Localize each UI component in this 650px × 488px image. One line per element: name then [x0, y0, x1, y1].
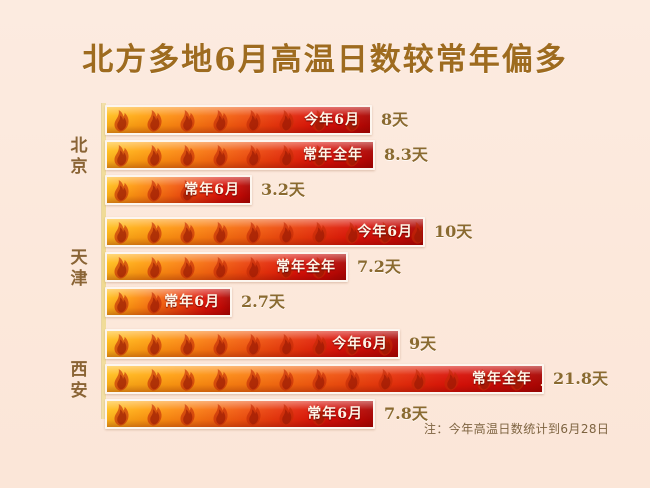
chart-footnote: 注：今年高温日数统计到6月28日: [424, 420, 609, 437]
flame-icon: [275, 220, 308, 246]
bar-value-label: 21.8天: [553, 368, 608, 390]
flame-icon: [110, 143, 143, 169]
flame-icon: [176, 143, 209, 169]
flame-icon: [110, 255, 143, 281]
bar-row: ...常年全年21.8天: [105, 364, 650, 394]
bar-row: 今年6月10天: [105, 217, 555, 247]
flame-icon: [407, 367, 440, 393]
flame-icon: [209, 220, 242, 246]
bar-row: 常年全年7.2天: [105, 252, 478, 282]
city-group: 西安今年6月9天...常年全年21.8天常年6月7.8天: [0, 329, 650, 434]
flame-icon: [242, 143, 275, 169]
city-label-char: 京: [62, 157, 96, 178]
flame-icon: [110, 108, 143, 134]
flame-icon: [308, 220, 341, 246]
bar-北京-常年全年[interactable]: 常年全年: [105, 140, 375, 170]
flame-icon: [275, 367, 308, 393]
flame-icon: [176, 402, 209, 428]
bar-chart: 北京今年6月8天常年全年8.3天常年6月3.2天天津今年6月10天常年全年7.2…: [0, 100, 650, 425]
bar-西安-常年6月[interactable]: 常年6月: [105, 399, 375, 429]
bar-series-label: 常年全年: [297, 142, 369, 168]
city-label-1: 北京: [62, 136, 96, 178]
bar-series-label: 今年6月: [298, 107, 366, 133]
bar-value-label: 10天: [434, 221, 472, 243]
flame-icon: [341, 367, 374, 393]
bar-天津-常年全年[interactable]: 常年全年: [105, 252, 348, 282]
flame-icon: [143, 220, 176, 246]
flame-icon: [308, 367, 341, 393]
flame-icon: [242, 367, 275, 393]
city-label-3: 西安: [62, 360, 96, 402]
flame-icon: [110, 367, 143, 393]
flame-icon: [242, 108, 275, 134]
bar-value-label: 3.2天: [261, 179, 305, 201]
bar-series-label: 常年6月: [301, 401, 369, 427]
flame-icon: [176, 332, 209, 358]
bar-value-label: 9天: [409, 333, 436, 355]
city-label-char: 安: [62, 381, 96, 402]
bar-series-label: 今年6月: [351, 219, 419, 245]
bar-value-label: 7.2天: [357, 256, 401, 278]
bar-北京-今年6月[interactable]: 今年6月: [105, 105, 372, 135]
bar-value-label: 8天: [381, 109, 408, 131]
flame-icon: [275, 332, 308, 358]
bar-天津-常年6月[interactable]: 常年6月: [105, 287, 232, 317]
flame-icon: [176, 108, 209, 134]
flame-icon: [176, 367, 209, 393]
bar-series-label: 今年6月: [326, 331, 394, 357]
flame-icon: [110, 332, 143, 358]
bar-truncation-ellipsis: ...: [540, 374, 544, 389]
flame-icon: [242, 402, 275, 428]
flame-icon: [242, 332, 275, 358]
infographic-canvas: 北方多地6月高温日数较常年偏多 北京今年6月8天常年全年8.3天常年6月3.2天…: [0, 0, 650, 488]
city-label-char: 天: [62, 248, 96, 269]
flame-icon: [110, 178, 143, 204]
bar-value-label: 8.3天: [384, 144, 428, 166]
flame-icon: [209, 143, 242, 169]
flame-icon: [209, 332, 242, 358]
flame-icon: [110, 402, 143, 428]
flame-icon: [209, 367, 242, 393]
bar-row: 今年6月9天: [105, 329, 530, 359]
flame-icon: [143, 143, 176, 169]
bar-series-label: 常年6月: [178, 177, 246, 203]
flame-icon: [143, 367, 176, 393]
bar-北京-常年6月[interactable]: 常年6月: [105, 175, 252, 205]
city-label-2: 天津: [62, 248, 96, 290]
flame-icon: [110, 290, 143, 316]
bar-series-label: 常年全年: [466, 366, 538, 392]
bar-row: 常年全年8.3天: [105, 140, 505, 170]
bar-天津-今年6月[interactable]: 今年6月: [105, 217, 425, 247]
bar-西安-今年6月[interactable]: 今年6月: [105, 329, 400, 359]
bar-西安-常年全年[interactable]: ...常年全年: [105, 364, 544, 394]
flame-icon: [176, 220, 209, 246]
bar-row: 常年6月2.7天: [105, 287, 362, 317]
city-label-char: 西: [62, 360, 96, 381]
flame-icon: [143, 178, 176, 204]
page-title: 北方多地6月高温日数较常年偏多: [0, 34, 650, 79]
flame-icon: [242, 220, 275, 246]
city-label-char: 津: [62, 269, 96, 290]
bar-series-label: 常年全年: [270, 254, 342, 280]
city-group: 天津今年6月10天常年全年7.2天常年6月2.7天: [0, 217, 650, 322]
flame-icon: [374, 367, 407, 393]
flame-icon: [110, 220, 143, 246]
flame-icon: [209, 402, 242, 428]
flame-icon: [143, 402, 176, 428]
flame-icon: [209, 108, 242, 134]
bar-series-label: 常年6月: [158, 289, 226, 315]
flame-icon: [143, 108, 176, 134]
bar-row: 今年6月8天: [105, 105, 502, 135]
bar-value-label: 7.8天: [384, 403, 428, 425]
city-label-char: 北: [62, 136, 96, 157]
flame-icon: [176, 255, 209, 281]
flame-icon: [143, 255, 176, 281]
city-group: 北京今年6月8天常年全年8.3天常年6月3.2天: [0, 105, 650, 210]
bar-row: 常年6月3.2天: [105, 175, 382, 205]
flame-icon: [143, 332, 176, 358]
flame-icon: [209, 255, 242, 281]
bar-value-label: 2.7天: [241, 291, 285, 313]
